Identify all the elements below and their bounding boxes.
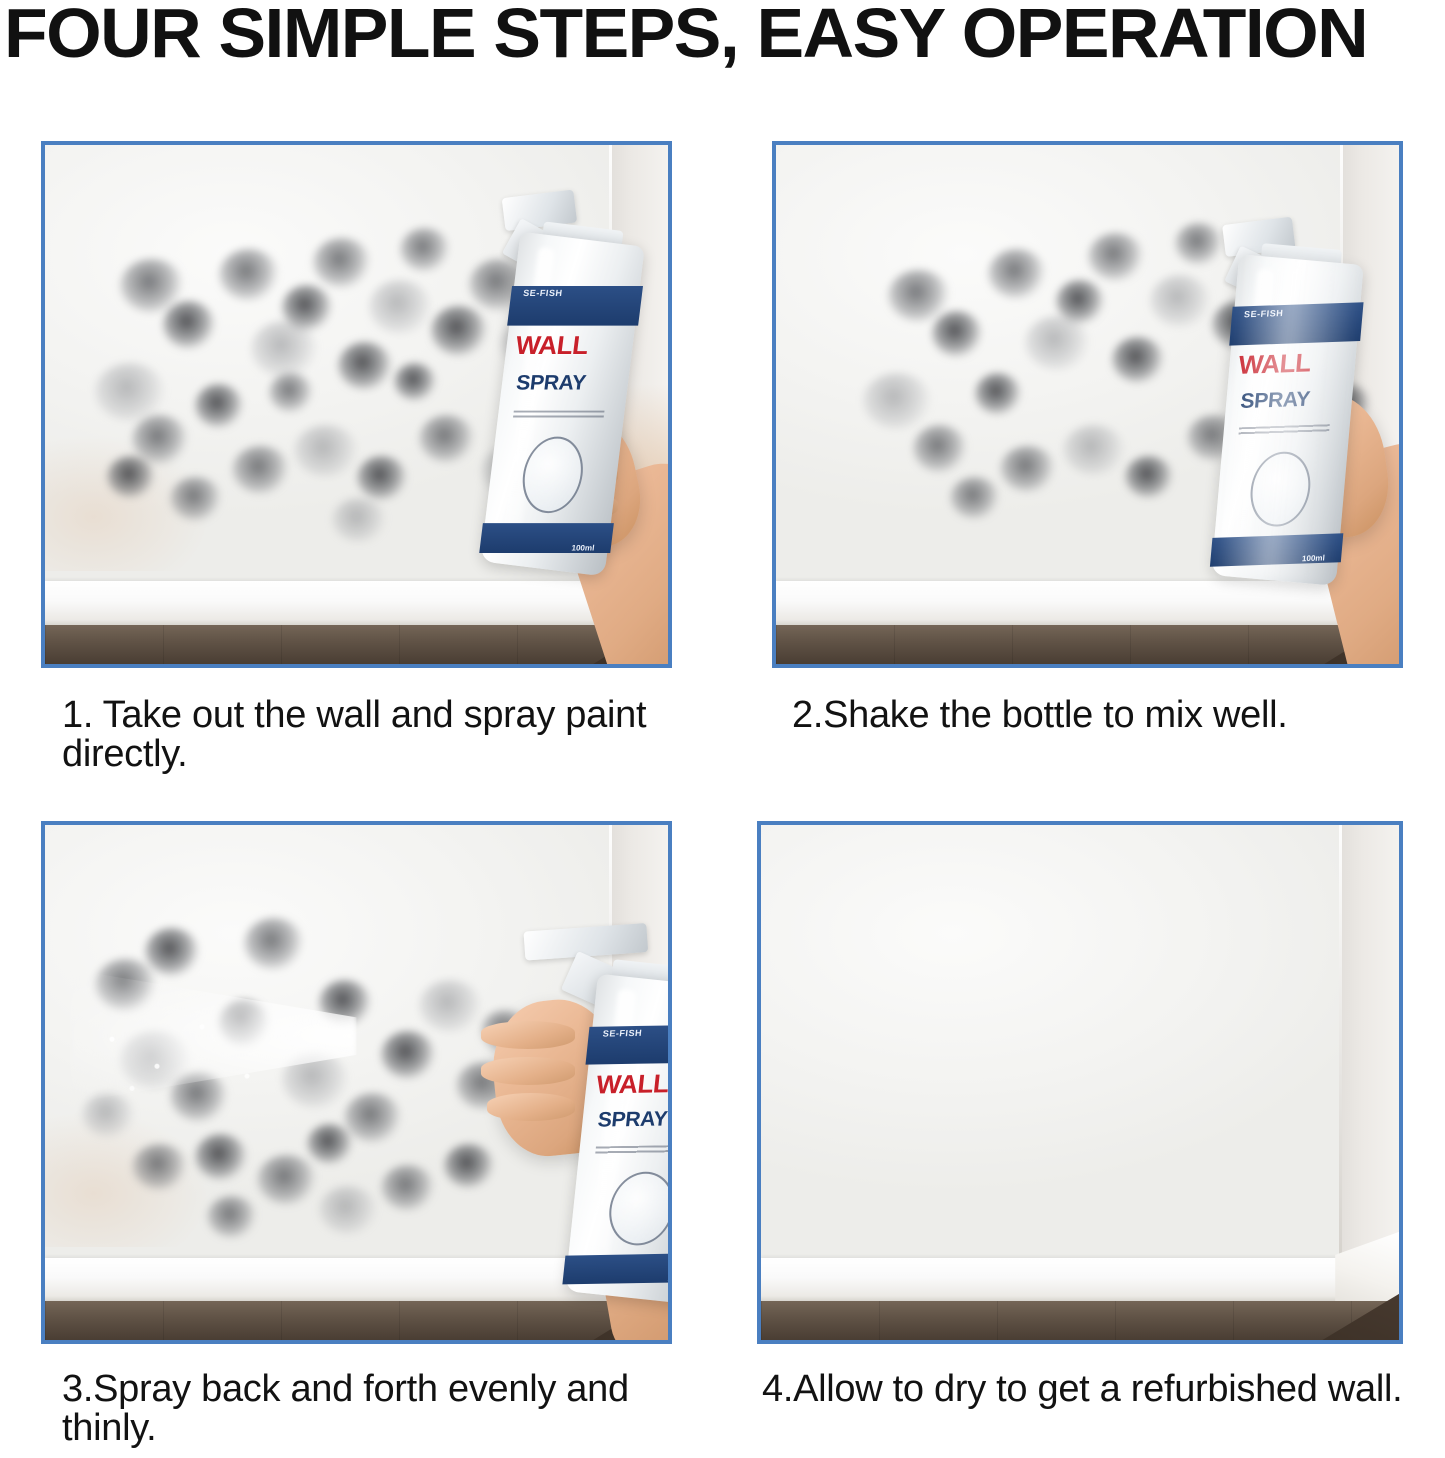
wall-surface <box>761 825 1399 1258</box>
step-4-image-panel <box>757 821 1403 1344</box>
product-name-line1: WALL <box>514 333 589 359</box>
product-volume: 100ml <box>571 544 595 553</box>
step-3-caption: 3.Spray back and forth evenly and thinly… <box>62 1370 702 1448</box>
label-fine-print <box>595 1144 672 1155</box>
scene-clean-wall <box>761 825 1399 1340</box>
product-name-line2: SPRAY <box>514 373 586 394</box>
corner-edge-line <box>1339 825 1342 1258</box>
floor-planks <box>45 1301 668 1340</box>
step-4-caption: 4.Allow to dry to get a refurbished wall… <box>762 1370 1442 1409</box>
brand-text: SE-FISH <box>522 289 599 299</box>
product-name-line1: WALL <box>594 1069 669 1096</box>
scene-shake-bottle: SE-FISH WALL SPRAY 100ml <box>776 145 1399 664</box>
step-2-caption: 2.Shake the bottle to mix well. <box>792 696 1432 735</box>
product-name-line2: SPRAY <box>1239 389 1310 412</box>
floor-planks <box>776 625 1399 664</box>
label-fine-print <box>1238 425 1329 437</box>
product-volume: 100ml <box>667 1273 672 1282</box>
baseboard <box>776 581 1399 625</box>
step-2-image-panel: SE-FISH WALL SPRAY 100ml <box>772 141 1403 668</box>
product-name-line1: WALL <box>1237 350 1311 378</box>
step-1-image-panel: SE-FISH WALL SPRAY 100ml <box>41 141 672 668</box>
scene-moldy-wall-spray: SE-FISH WALL SPRAY 100ml <box>45 145 668 664</box>
baseboard <box>45 581 668 625</box>
finger <box>487 1093 574 1121</box>
spray-droplets <box>82 990 331 1114</box>
floor-planks <box>761 1301 1399 1340</box>
step-3-image-panel: SE-FISH WALL SPRAY 100ml <box>41 821 672 1344</box>
step-1-caption: 1. Take out the wall and spray paint dir… <box>62 696 702 774</box>
page-title: FOUR SIMPLE STEPS, EASY OPERATION <box>4 0 1445 72</box>
finger <box>481 1021 574 1049</box>
scene-spraying-wall: SE-FISH WALL SPRAY 100ml <box>45 825 668 1340</box>
brand-text: SE-FISH <box>602 1027 672 1038</box>
corner-wall <box>1342 825 1399 1258</box>
baseboard <box>761 1258 1399 1302</box>
product-volume: 100ml <box>1302 553 1326 563</box>
product-name-line2: SPRAY <box>596 1108 668 1130</box>
label-fine-print <box>512 411 603 420</box>
floor-planks <box>45 625 668 664</box>
label-bottom-band <box>562 1252 672 1283</box>
label-illustration-circle <box>1247 451 1313 528</box>
finger <box>481 1057 574 1085</box>
